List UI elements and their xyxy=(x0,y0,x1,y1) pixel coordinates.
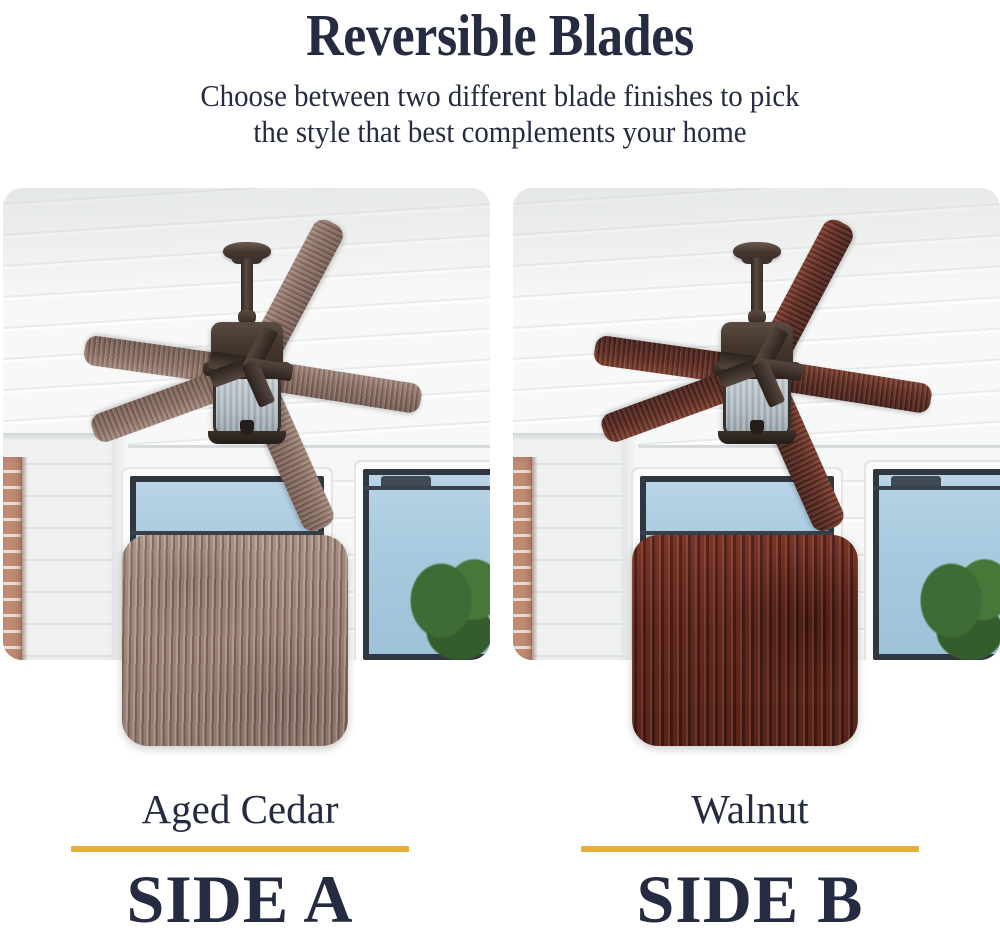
side-label-a: SIDE A xyxy=(0,863,485,935)
downrod xyxy=(751,258,763,314)
finish-name-side-b: Walnut xyxy=(505,786,995,832)
page-title: Reversible Blades xyxy=(60,2,940,68)
side-label-b: SIDE B xyxy=(505,863,995,935)
aged-cedar-wood-swatch[interactable] xyxy=(122,535,348,746)
infographic-root: Reversible Blades Choose between two dif… xyxy=(0,0,1000,947)
gold-divider-rule xyxy=(71,846,409,852)
light-kit-finial xyxy=(750,420,764,435)
subtitle-line-2: the style that best complements your hom… xyxy=(35,114,965,150)
caption-side-b: Walnut SIDE B xyxy=(505,786,995,935)
light-kit-finial xyxy=(240,420,254,435)
caption-side-a: Aged Cedar SIDE A xyxy=(0,786,485,935)
gold-divider-rule xyxy=(581,846,919,852)
subtitle-line-1: Choose between two different blade finis… xyxy=(35,78,965,114)
finish-name-side-a: Aged Cedar xyxy=(0,786,485,832)
page-subtitle: Choose between two different blade finis… xyxy=(35,78,965,150)
walnut-wood-swatch[interactable] xyxy=(632,535,858,746)
downrod xyxy=(241,258,253,314)
